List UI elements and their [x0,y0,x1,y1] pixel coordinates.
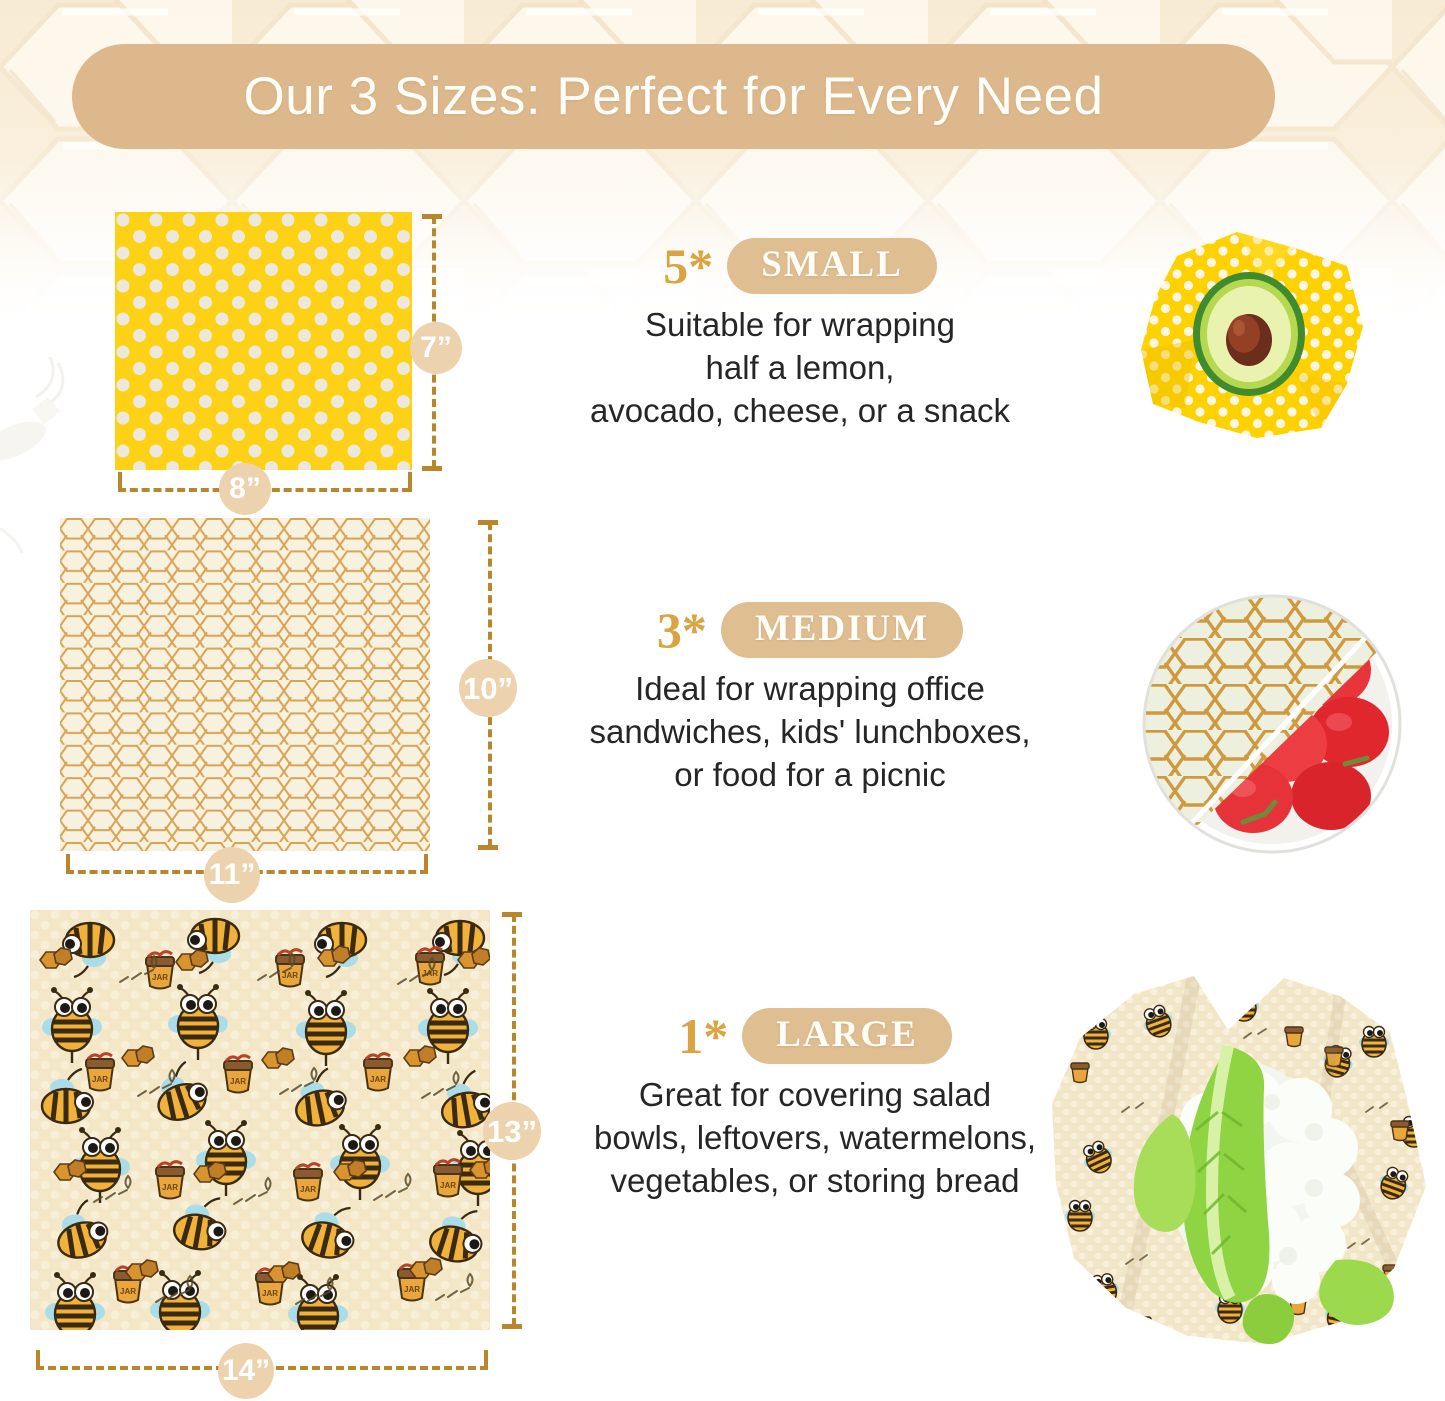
medium-height-badge: 10” [459,659,517,717]
large-wrap-swatch: JAR [30,910,490,1330]
large-description: Great for covering salad bowls, leftover… [550,1074,1080,1203]
medium-height-tick-top [478,520,498,525]
medium-width-badge: 11” [204,847,260,903]
small-width-tick-left [118,472,122,492]
large-width-tick-left [36,1350,40,1370]
large-height-badge: 13” [483,1102,541,1160]
small-wrap-swatch [115,212,412,470]
large-width-badge: 14” [218,1343,274,1399]
small-width-tick-right [408,472,412,492]
large-height-tick-top [502,912,522,917]
large-size-pill: LARGE [742,1008,952,1064]
small-size-pill: SMALL [727,238,937,294]
large-height-tick-bottom [502,1324,522,1329]
medium-description: Ideal for wrapping office sandwiches, ki… [530,668,1090,797]
small-height-badge: 7” [410,322,462,374]
large-text-block: 1* LARGE Great for covering salad bowls,… [550,1008,1080,1203]
small-description: Suitable for wrapping half a lemon, avoc… [540,304,1060,433]
large-count: 1* [678,1011,728,1061]
medium-wrap-swatch [60,518,430,851]
medium-size-pill: MEDIUM [721,602,963,658]
small-width-badge: 8” [219,463,271,515]
large-width-tick-right [484,1350,488,1370]
medium-width-tick-right [424,854,428,874]
medium-width-tick-left [66,854,70,874]
cauliflower-photo [1022,972,1437,1367]
medium-label-line: 3* MEDIUM [530,602,1090,658]
avocado-photo [1125,222,1380,457]
medium-height-tick-bottom [478,845,498,850]
small-text-block: 5* SMALL Suitable for wrapping half a le… [540,238,1060,433]
header-banner: Our 3 Sizes: Perfect for Every Need [72,44,1275,149]
medium-text-block: 3* MEDIUM Ideal for wrapping office sand… [530,602,1090,797]
page-title: Our 3 Sizes: Perfect for Every Need [244,70,1104,123]
small-label-line: 5* SMALL [540,238,1060,294]
large-label-line: 1* LARGE [550,1008,1080,1064]
medium-count: 3* [657,605,707,655]
small-height-tick-top [422,214,442,219]
small-height-tick-bottom [422,466,442,471]
small-count: 5* [663,241,713,291]
tomato-bowl-photo [1135,592,1410,857]
